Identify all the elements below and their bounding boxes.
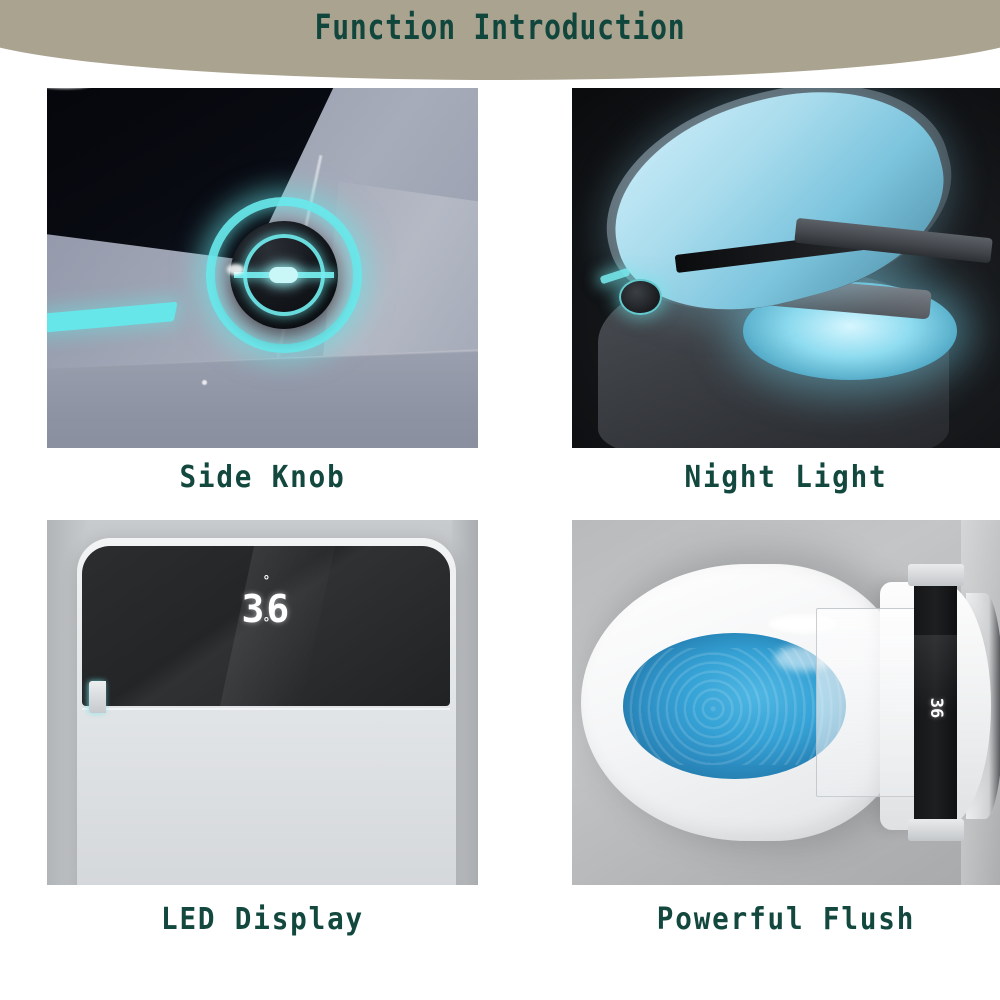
side-accent-light-strip <box>599 267 630 284</box>
feature-card-powerful-flush[interactable]: 36 Powerful Flush <box>572 520 1000 950</box>
feature-card-night-light[interactable]: Night Light <box>572 88 1000 508</box>
feature-caption-night-light: Night Light <box>589 460 983 495</box>
cyan-light-strip <box>47 301 178 332</box>
led-screen: ° 36 ° <box>82 546 450 707</box>
unit-body-seam <box>82 708 450 710</box>
toilet-front-unit: ° 36 ° <box>77 538 456 885</box>
panel-readout-value: 36 <box>926 698 946 718</box>
side-knob-scene <box>47 88 478 448</box>
hinge-clip-bottom <box>908 819 964 841</box>
body-speck-highlight <box>202 380 207 385</box>
feature-caption-led-display: LED Display <box>64 902 461 937</box>
feature-card-side-knob[interactable]: Side Knob <box>47 88 478 508</box>
feature-caption-powerful-flush: Powerful Flush <box>589 902 983 937</box>
feature-image-led-display: ° 36 ° <box>47 520 478 885</box>
side-knob-control[interactable] <box>230 221 338 329</box>
toilet-lower-face <box>47 347 478 448</box>
led-degree-mark-bottom: ° <box>82 616 450 631</box>
feature-card-led-display[interactable]: ° 36 ° LED Display <box>47 520 478 950</box>
led-display-scene: ° 36 ° <box>47 520 478 885</box>
knob-center-pill-icon <box>269 267 298 283</box>
feature-grid: Side Knob Night Light <box>0 88 1000 978</box>
feature-caption-side-knob: Side Knob <box>64 460 461 495</box>
hinge-clip-top <box>908 564 964 586</box>
side-display-panel: 36 <box>914 578 957 837</box>
side-button[interactable] <box>89 681 106 714</box>
powerful-flush-scene: 36 <box>572 520 1000 885</box>
seat-glass-cover <box>816 608 927 798</box>
feature-image-side-knob <box>47 88 478 448</box>
page-title: Function Introduction <box>68 8 932 48</box>
background-wall-right <box>452 520 478 885</box>
function-introduction-page: Function Introduction <box>0 0 1000 1000</box>
feature-image-powerful-flush: 36 <box>572 520 1000 885</box>
night-light-scene <box>572 88 1000 448</box>
feature-image-night-light <box>572 88 1000 448</box>
side-knob-control[interactable] <box>619 279 662 315</box>
header-banner: Function Introduction <box>0 0 1000 80</box>
flush-water-swirl <box>623 633 846 779</box>
